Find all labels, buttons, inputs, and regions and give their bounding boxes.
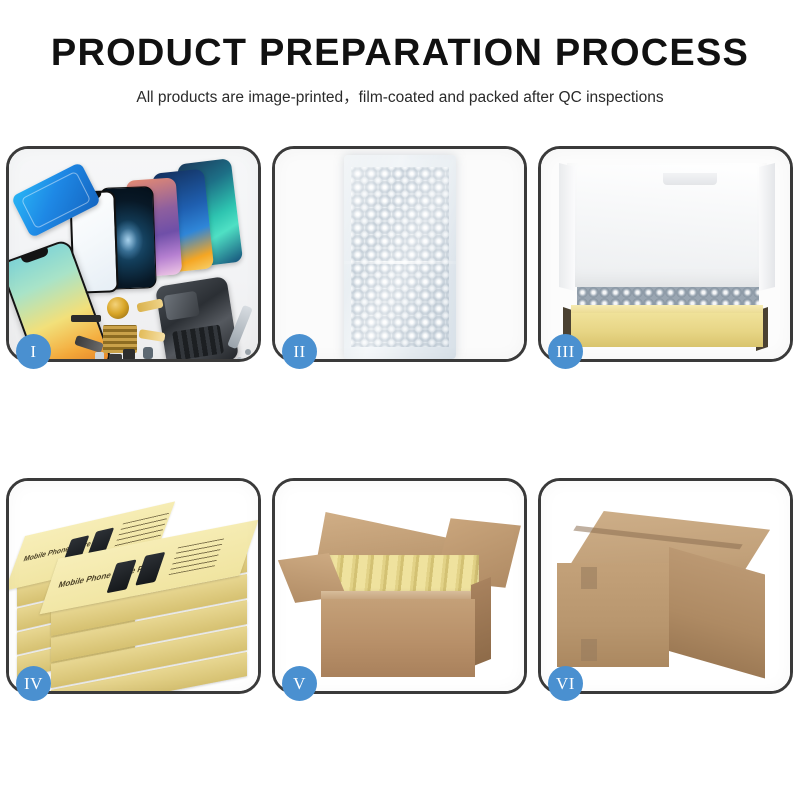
speaker-coil-icon (107, 297, 129, 319)
step-4-image: Mobile Phone Spare Parts Mobile Phone Sp… (9, 481, 258, 691)
step-5-image (275, 481, 524, 691)
process-step-panel-1: I (6, 146, 261, 362)
step-2-image (275, 149, 524, 359)
step-badge-6: VI (548, 666, 583, 701)
retail-box-stack-icon: Mobile Phone Spare Parts Mobile Phone Sp… (9, 481, 258, 691)
ic-chip-icon (123, 349, 135, 359)
spec-lines-front (169, 538, 224, 575)
step-6-image (541, 481, 790, 691)
bubble-wrap-pouch-icon (344, 155, 456, 359)
phone-housing-icon (155, 276, 239, 359)
carton-front-open-icon (321, 599, 475, 677)
process-step-panel-4: Mobile Phone Spare Parts Mobile Phone Sp… (6, 478, 261, 694)
process-step-panel-2: II (272, 146, 527, 362)
page-title: PRODUCT PREPARATION PROCESS (0, 34, 800, 74)
step-badge-2: II (282, 334, 317, 369)
mailer-box-base-icon (571, 313, 763, 347)
header: PRODUCT PREPARATION PROCESS All products… (0, 34, 800, 107)
pouch-sheen (344, 155, 456, 359)
page-subtitle: All products are image-printed，film-coat… (0, 85, 800, 107)
sealed-carton-front-icon (557, 563, 669, 667)
screen-artwork-front-2 (135, 552, 165, 586)
step-3-image (541, 149, 790, 359)
step-badge-4: IV (16, 666, 51, 701)
carton-tape-upper-icon (581, 567, 597, 589)
mailer-box-tab (663, 173, 717, 185)
sim-tray-icon (95, 352, 104, 359)
step-badge-5: V (282, 666, 317, 701)
step-1-image (9, 149, 258, 359)
product-preparation-infographic: PRODUCT PREPARATION PROCESS All products… (0, 0, 800, 800)
camera-module-icon (143, 347, 153, 359)
carton-tape-lower-icon (581, 639, 597, 661)
mailer-box-lid-icon (567, 163, 767, 287)
process-step-panel-5: V (272, 478, 527, 694)
screw-small-icon (237, 357, 242, 359)
process-step-grid: I II (6, 146, 794, 694)
step-badge-3: III (548, 334, 583, 369)
screen-artwork-front-1 (106, 559, 136, 593)
process-step-panel-3: III (538, 146, 793, 362)
battery-strip-icon (71, 315, 101, 322)
screw-icon (245, 349, 251, 355)
process-step-panel-6: VI (538, 478, 793, 694)
step-badge-1: I (16, 334, 51, 369)
connector-icon (109, 354, 122, 359)
